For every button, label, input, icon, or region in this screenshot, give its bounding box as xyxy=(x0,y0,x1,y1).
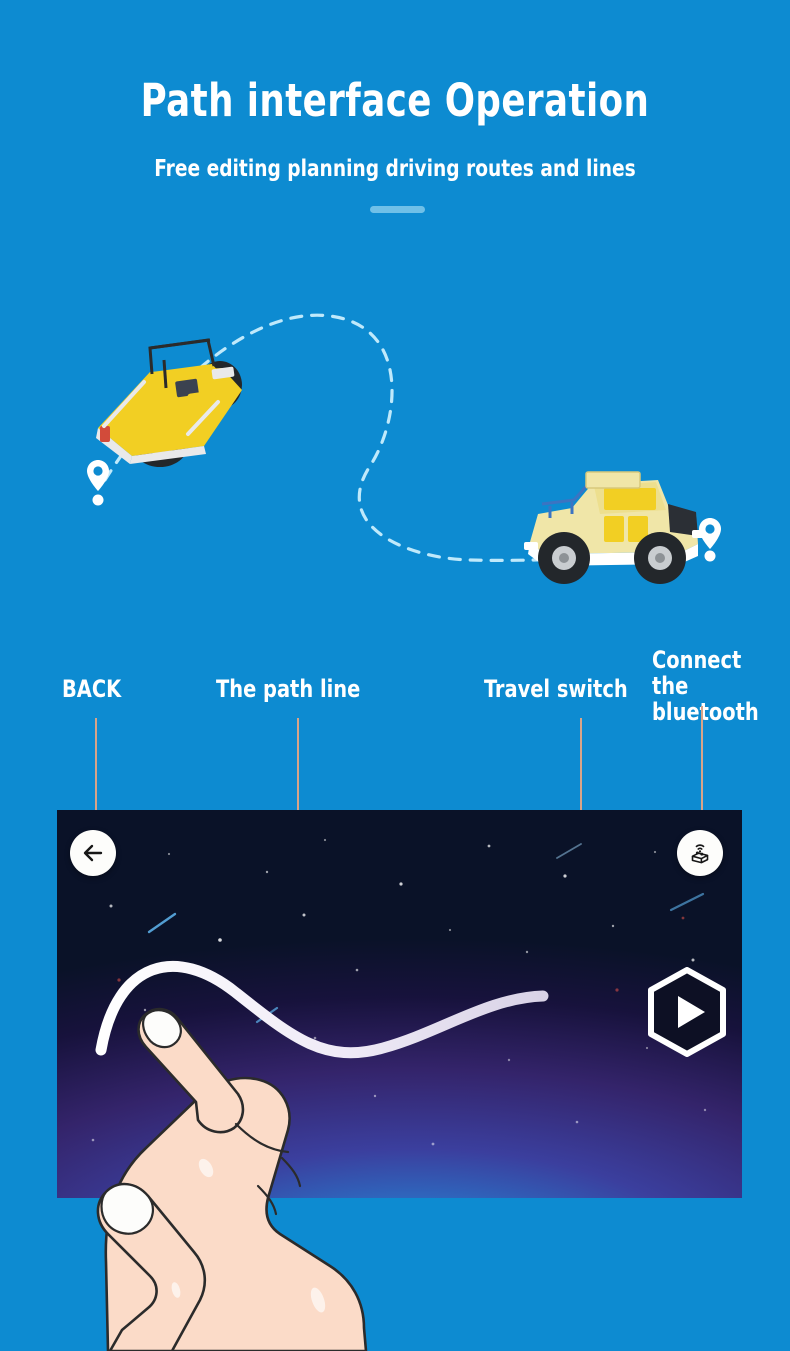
arrow-left-icon xyxy=(81,841,105,865)
app-screen[interactable] xyxy=(57,810,742,1198)
illustration xyxy=(0,280,790,620)
hexagon-play-button xyxy=(643,967,731,1057)
map-pin-end xyxy=(699,518,721,562)
callout-label-travel: Travel switch xyxy=(484,676,628,702)
lego-truck-top-view xyxy=(96,340,242,467)
brick-bluetooth-icon xyxy=(686,839,714,867)
bluetooth-connect-button[interactable] xyxy=(677,830,723,876)
drawn-path-line xyxy=(57,810,742,1198)
travel-switch-button[interactable] xyxy=(643,967,731,1057)
map-pin-start xyxy=(87,460,109,506)
header: Path interface Operation Free editing pl… xyxy=(0,0,790,240)
promo-page: Path interface Operation Free editing pl… xyxy=(0,0,790,1351)
callout-label-path-line: The path line xyxy=(216,676,360,702)
illustration-svg xyxy=(0,280,790,620)
page-subtitle: Free editing planning driving routes and… xyxy=(40,158,751,181)
back-button[interactable] xyxy=(70,830,116,876)
page-title: Path interface Operation xyxy=(47,78,742,123)
lego-truck-side-view xyxy=(524,472,704,584)
callout-label-back: BACK xyxy=(62,676,121,702)
callout-label-bluetooth: Connect the bluetooth xyxy=(652,647,776,725)
divider-bar xyxy=(370,206,425,213)
